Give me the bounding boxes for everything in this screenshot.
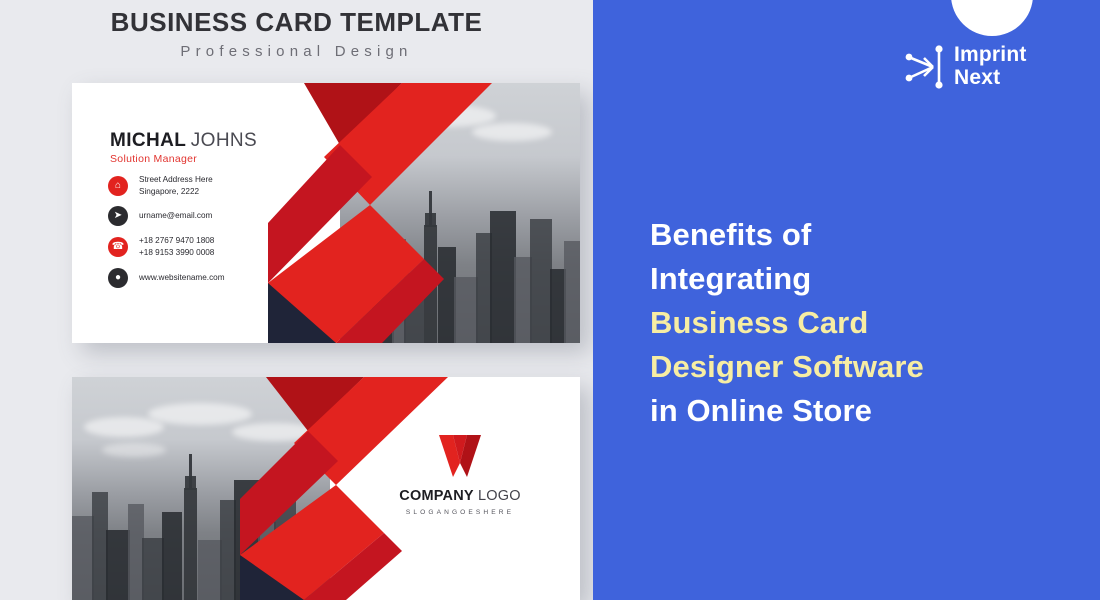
brand-name: Imprint Next xyxy=(954,44,1027,89)
card-name: MICHAL JOHNS xyxy=(110,130,257,152)
left-preview-panel: BUSINESS CARD TEMPLATE Professional Desi… xyxy=(0,0,593,600)
headline-line-4: Designer Software xyxy=(650,345,1090,389)
card-contact-list: ⌂ Street Address Here Singapore, 2222 ➤ … xyxy=(108,174,225,297)
page-title: BUSINESS CARD TEMPLATE xyxy=(0,8,593,38)
company-logo-block: COMPANY LOGO SLOGANGOESHERE xyxy=(340,433,580,516)
contact-row-address: ⌂ Street Address Here Singapore, 2222 xyxy=(108,174,225,197)
contact-phone-text: +18 2767 9470 1808 +18 9153 3990 0008 xyxy=(139,235,214,258)
headline-line-3: Business Card xyxy=(650,301,1090,345)
company-name-light: LOGO xyxy=(478,488,521,504)
company-slogan: SLOGANGOESHERE xyxy=(340,509,580,516)
red-v-logo-icon xyxy=(433,433,487,479)
contact-address-text: Street Address Here Singapore, 2222 xyxy=(139,174,213,197)
brand-logo[interactable]: Imprint Next xyxy=(902,44,1027,90)
contact-row-phone: ☎ +18 2767 9470 1808 +18 9153 3990 0008 xyxy=(108,235,225,258)
page-subtitle: Professional Design xyxy=(0,44,593,61)
phone-line-1: +18 2767 9470 1808 xyxy=(139,235,214,247)
cursor-icon: ➤ xyxy=(108,206,128,226)
globe-icon: ● xyxy=(108,268,128,288)
card-job-title: Solution Manager xyxy=(110,153,197,165)
headline-line-2: Integrating xyxy=(650,257,1090,301)
brand-name-line-1: Imprint xyxy=(954,44,1027,67)
contact-row-email: ➤ urname@email.com xyxy=(108,206,225,226)
email-line-1: urname@email.com xyxy=(139,210,212,222)
address-line-1: Street Address Here xyxy=(139,174,213,186)
phone-line-2: +18 9153 3990 0008 xyxy=(139,247,214,259)
card-name-first: MICHAL xyxy=(110,130,186,151)
brand-name-line-2: Next xyxy=(954,67,1027,90)
imprint-next-node-icon xyxy=(902,44,948,90)
contact-website-text: www.websitename.com xyxy=(139,272,225,284)
company-logo-name: COMPANY LOGO xyxy=(340,489,580,504)
decorative-circle xyxy=(951,0,1033,36)
business-card-back[interactable]: COMPANY LOGO SLOGANGOESHERE xyxy=(72,377,580,600)
business-card-front[interactable]: MICHAL JOHNS Solution Manager ⌂ Street A… xyxy=(72,83,580,343)
template-heading-block: BUSINESS CARD TEMPLATE Professional Desi… xyxy=(0,8,593,60)
contact-email-text: urname@email.com xyxy=(139,210,212,222)
contact-row-website: ● www.websitename.com xyxy=(108,268,225,288)
company-name-bold: COMPANY xyxy=(399,488,473,504)
poster-canvas: BUSINESS CARD TEMPLATE Professional Desi… xyxy=(0,0,1100,600)
address-line-2: Singapore, 2222 xyxy=(139,186,213,198)
right-blue-panel: Imprint Next Benefits of Integrating Bus… xyxy=(593,0,1100,600)
website-line-1: www.websitename.com xyxy=(139,272,225,284)
home-icon: ⌂ xyxy=(108,176,128,196)
phone-icon: ☎ xyxy=(108,237,128,257)
card-name-last: JOHNS xyxy=(191,130,257,151)
headline-line-5: in Online Store xyxy=(650,389,1090,433)
headline-line-1: Benefits of xyxy=(650,213,1090,257)
article-headline: Benefits of Integrating Business Card De… xyxy=(650,213,1090,433)
